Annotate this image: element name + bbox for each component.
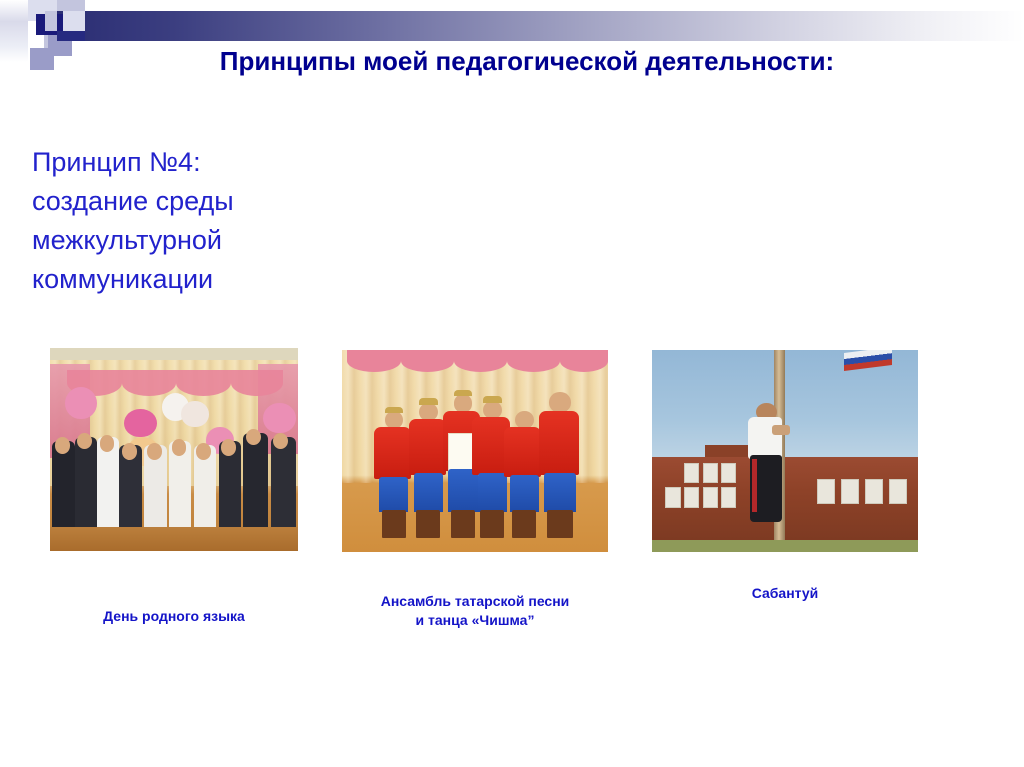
photo-2-dancer-4-boots bbox=[480, 510, 504, 538]
photo-1-content bbox=[50, 348, 298, 551]
photo-2-dancer-2-head bbox=[419, 403, 438, 421]
photo-2-dancer-3-pants bbox=[448, 469, 477, 511]
photo-1-child-6-head bbox=[172, 439, 187, 455]
photo-2-dancer-5-pants bbox=[510, 475, 539, 511]
photo-2-dancer-3-cap bbox=[454, 390, 473, 396]
photo-2-dancer-6-boots bbox=[547, 510, 574, 538]
photo-2-swag-1 bbox=[347, 350, 400, 372]
photo-1-balloon-2 bbox=[124, 409, 156, 437]
deco-square-pale-2 bbox=[63, 11, 85, 31]
photo-1-child-8-head bbox=[221, 439, 236, 455]
header-gradient-bar bbox=[57, 11, 1024, 41]
deco-square-light-1 bbox=[57, 0, 85, 11]
photo-2-dancer-4-pants bbox=[478, 473, 507, 511]
photo-2-caption-line-2: и танца «Чишма” bbox=[332, 611, 618, 630]
principle-line-4: коммуникации bbox=[32, 260, 362, 299]
photo-1-child-5-head bbox=[147, 443, 162, 459]
photo-2-dancer-5-shirt bbox=[504, 427, 541, 478]
photo-3-grass bbox=[652, 540, 918, 552]
deco-square-light-4 bbox=[45, 11, 57, 31]
photo-3-window-4 bbox=[721, 487, 736, 507]
photo-3-window-1 bbox=[665, 487, 680, 507]
principle-text-block: Принцип №4: создание среды межкультурной… bbox=[32, 143, 362, 299]
photo-2-caption: Ансамбль татарской песни и танца «Чишма” bbox=[332, 592, 618, 630]
principle-line-3: межкультурной bbox=[32, 221, 362, 260]
deco-square-deep-1 bbox=[57, 31, 85, 41]
photo-2-dancer-3-head bbox=[454, 394, 473, 412]
photo-ansambl-chishma bbox=[342, 350, 608, 552]
photo-3-climber-arm bbox=[772, 425, 791, 435]
photo-3-window-3 bbox=[703, 487, 718, 507]
photo-1-child-7-head bbox=[196, 443, 211, 459]
photo-2-dancer-6-shirt bbox=[539, 411, 579, 476]
photo-1-balloon-5 bbox=[181, 401, 208, 427]
photo-3-window-9 bbox=[841, 479, 859, 503]
photo-2-dancer-1-pants bbox=[379, 477, 408, 511]
photo-2-dancer-1-cap bbox=[385, 407, 404, 413]
photo-3-climber-shirt bbox=[748, 417, 783, 459]
photo-1-child-3-head bbox=[100, 435, 115, 451]
photo-den-rodnogo-yazyka bbox=[50, 348, 298, 551]
photo-1-floor bbox=[50, 527, 298, 551]
photo-2-dancer-5-boots bbox=[512, 510, 536, 538]
photo-1-child-1-head bbox=[55, 437, 70, 453]
photo-2-dancer-1-shirt bbox=[374, 427, 411, 480]
photo-2-dancer-3-boots bbox=[451, 510, 475, 538]
photo-2-dancer-1-boots bbox=[382, 510, 406, 538]
photo-3-window-11 bbox=[889, 479, 907, 503]
photo-3-window-7 bbox=[721, 463, 736, 483]
photo-3-window-6 bbox=[703, 463, 718, 483]
photo-2-swag-5 bbox=[560, 350, 608, 372]
principle-line-1: Принцип №4: bbox=[32, 143, 362, 182]
photo-3-window-8 bbox=[817, 479, 835, 503]
photo-3-caption: Сабантуй bbox=[652, 584, 918, 603]
photo-1-balloon-7 bbox=[263, 403, 295, 433]
photo-2-swag-2 bbox=[401, 350, 454, 372]
photo-2-dancer-2-shirt bbox=[409, 419, 446, 476]
photo-2-dancer-4-cap bbox=[483, 396, 502, 402]
photo-2-dancer-2-cap bbox=[419, 398, 438, 404]
page-title: Принципы моей педагогической деятельност… bbox=[0, 46, 1024, 77]
photo-2-dancer-2-boots bbox=[416, 510, 440, 538]
photo-2-swag-4 bbox=[507, 350, 560, 372]
photo-3-window-5 bbox=[684, 463, 699, 483]
photo-1-child-4-head bbox=[122, 443, 137, 459]
photo-2-dancer-4-head bbox=[483, 401, 502, 419]
photo-3-climber-stripe bbox=[752, 459, 757, 512]
photo-1-caption: День родного языка bbox=[48, 607, 300, 626]
photo-1-balloon-1 bbox=[65, 387, 97, 419]
photo-3-window-2 bbox=[684, 487, 699, 507]
photo-3-window-10 bbox=[865, 479, 883, 503]
photo-2-dancer-6-pants bbox=[544, 473, 576, 511]
photo-2-swag-3 bbox=[454, 350, 507, 372]
photo-2-dancer-2-pants bbox=[414, 473, 443, 511]
photo-sabantuy bbox=[652, 350, 918, 552]
photo-3-content bbox=[652, 350, 918, 552]
photo-2-content bbox=[342, 350, 608, 552]
principle-line-2: создание среды bbox=[32, 182, 362, 221]
photo-2-caption-line-1: Ансамбль татарской песни bbox=[332, 592, 618, 611]
photo-2-dancer-6-head bbox=[549, 392, 570, 412]
